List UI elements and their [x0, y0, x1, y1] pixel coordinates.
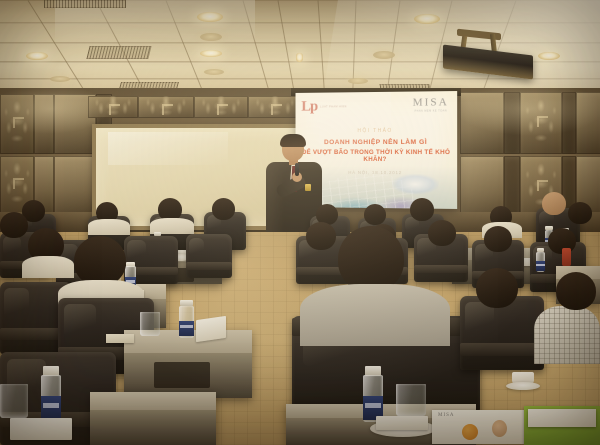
- ceiling-downlight: [348, 78, 368, 84]
- attendee-shoulders: [300, 284, 450, 346]
- ceiling-downlight: [200, 50, 222, 57]
- attendee-shoulders: [534, 306, 600, 364]
- attendee-shoulders: [88, 219, 130, 235]
- lapel-badge: [305, 184, 311, 191]
- attendee-head: [306, 222, 336, 250]
- ceiling-downlight: [204, 69, 224, 75]
- attendee-head: [212, 198, 235, 220]
- attendee-head: [556, 272, 596, 310]
- water-bottle: [535, 248, 546, 272]
- water-bottle: [178, 300, 195, 338]
- ceiling-vent: [44, 0, 126, 8]
- drinking-glass: [0, 384, 28, 418]
- desk: [124, 330, 252, 398]
- ceiling-downlight: [373, 51, 395, 59]
- projector-icon: [443, 42, 533, 76]
- misa-logo: MISA PHAN MEM KE TOAN: [413, 97, 449, 113]
- notepad: [106, 334, 134, 343]
- attendee-head: [542, 192, 566, 215]
- ceiling: [0, 0, 600, 96]
- ceiling-downlight: [538, 52, 560, 60]
- desk: [90, 392, 216, 445]
- ceiling-downlight: [197, 12, 223, 22]
- ceiling-downlight: [414, 14, 440, 24]
- attendee-shoulders: [22, 256, 74, 278]
- brochure-misa: MISA: [432, 410, 524, 444]
- water-bottle: [40, 366, 62, 422]
- drinking-glass: [140, 312, 160, 336]
- chair: [186, 234, 232, 278]
- ceiling-downlight: [200, 33, 222, 41]
- attendee-head: [476, 268, 518, 308]
- attendee-head: [410, 198, 434, 221]
- attendee-head: [428, 220, 456, 246]
- attendee-head: [0, 212, 28, 238]
- napkin: [376, 416, 428, 430]
- napkin: [196, 316, 226, 342]
- water-bottle: [362, 366, 384, 422]
- misa-logo-mark: MISA: [413, 97, 449, 108]
- attendee-head: [74, 236, 126, 286]
- napkin: [10, 418, 72, 440]
- attendee-head: [484, 226, 512, 252]
- ceiling-vent: [86, 46, 151, 59]
- ceiling-downlight: [50, 76, 70, 82]
- ceiling-downlight: [26, 52, 48, 60]
- brochure-green: [524, 406, 600, 445]
- ceiling-downlight: [296, 53, 303, 62]
- brochure-misa-logo: MISA: [438, 413, 455, 418]
- red-cup: [562, 248, 571, 266]
- attendee-head: [364, 204, 386, 225]
- attendee-head: [338, 226, 404, 292]
- microphone-icon: [295, 163, 299, 176]
- seminar-room-photo: Lp LUAT PHAM HIEN MISA PHAN MEM KE TOAN …: [0, 0, 600, 445]
- misa-logo-sub: PHAN MEM KE TOAN: [413, 109, 449, 112]
- attendee-head: [568, 202, 592, 224]
- drinking-glass: [396, 384, 426, 416]
- plate: [506, 382, 540, 390]
